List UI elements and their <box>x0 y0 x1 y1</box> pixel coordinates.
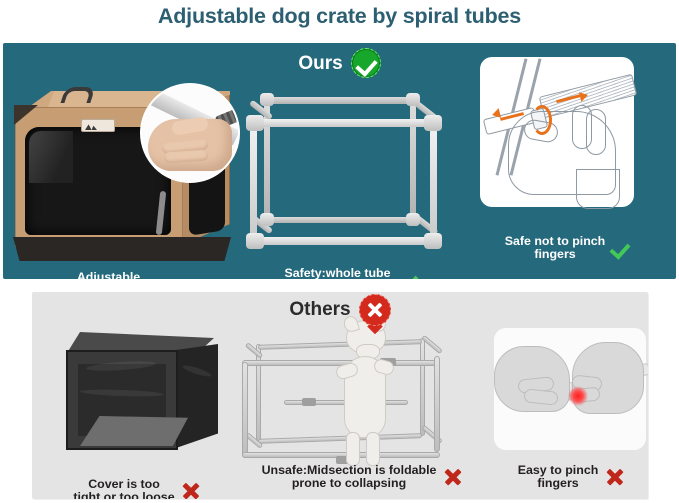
tube-frame-diagram <box>242 89 478 257</box>
fold-joint-marker-1 <box>302 398 316 406</box>
ours-caption-2-text: Safety:whole tube will be more stable <box>282 267 393 279</box>
illustration-finger-2 <box>586 109 606 155</box>
illustration-wrist <box>576 169 620 209</box>
others-caption-3-text: Easy to pinch fingers <box>518 464 599 491</box>
dog-standing-image <box>326 320 412 470</box>
frame-joint-front-top-right <box>424 115 442 131</box>
ours-caption-2: Safety:whole tube will be more stable <box>236 267 464 279</box>
frame-front-bottom-rail <box>250 237 436 245</box>
others-cell-1: Cover is too tight or too loose <box>32 312 242 498</box>
tan-fabric-dog-crate-image <box>11 85 233 275</box>
green-check-icon <box>156 275 174 279</box>
ours-caption-1-text: Adjustable cover of crate <box>68 271 149 279</box>
others-caption-2-text: Unsafe:Midsection is foldable prone to c… <box>262 464 437 491</box>
ours-heading-label: Ours <box>298 54 342 73</box>
others-panel: Others Cover is too tight or too loose <box>32 292 648 499</box>
foldable-frame-with-dog-image <box>238 316 486 474</box>
frame-joint-back-top-right <box>406 93 420 106</box>
others-caption-1-text: Cover is too tight or too loose <box>73 478 174 499</box>
crate-base <box>13 237 231 261</box>
ours-panel: Ours <box>3 43 676 279</box>
page-title: Adjustable dog crate by spiral tubes <box>0 4 679 29</box>
bad-frame-front-left-upright <box>242 362 248 458</box>
crate-mesh-highlight <box>29 131 73 183</box>
dog-leg-left <box>346 432 360 466</box>
crate-carry-handle <box>60 87 95 103</box>
orange-rotation-arrow <box>532 105 552 135</box>
orange-arrow-left-head <box>491 108 501 120</box>
others-caption-2: Unsafe:Midsection is foldable prone to c… <box>238 464 486 491</box>
black-fabric-crate-image <box>58 332 224 456</box>
frame-joint-back-bottom-left <box>260 213 274 226</box>
pinch-point-red-glow-icon <box>568 386 588 406</box>
ours-caption-3-text: Safe not to pinch fingers <box>505 235 606 262</box>
bad-frame-front-right-upright <box>434 356 440 452</box>
ours-caption-3: Safe not to pinch fingers <box>465 235 670 262</box>
frame-joint-front-bottom-right <box>424 233 442 249</box>
red-x-circle-icon <box>359 294 391 326</box>
frame-joint-front-top-left <box>246 115 264 131</box>
ours-caption-1: Adjustable cover of crate <box>7 271 235 279</box>
ours-cell-1: Adjustable cover of crate <box>7 73 235 273</box>
crate-brand-logo <box>81 119 115 132</box>
others-heading-label: Others <box>289 299 350 321</box>
frame-front-left-upright <box>250 123 257 241</box>
red-x-icon <box>605 468 624 487</box>
bad-frame-back-left-upright <box>256 344 261 442</box>
others-caption-1: Cover is too tight or too loose <box>32 478 242 499</box>
frame-back-bottom-rail <box>266 217 414 223</box>
others-heading: Others <box>32 294 648 326</box>
spiral-tube-grip-inset <box>142 85 238 181</box>
pinch-hazard-illustration-card <box>494 328 646 450</box>
green-check-icon <box>400 271 418 279</box>
green-check-icon <box>612 239 630 257</box>
others-cell-3: Easy to pinch fingers <box>482 318 648 498</box>
dog-leg-right <box>366 432 380 466</box>
red-x-icon <box>182 482 201 499</box>
pinch-safe-illustration-card <box>480 57 634 207</box>
ours-cell-3: Safe not to pinch fingers <box>465 43 670 279</box>
frame-joint-back-top-left <box>260 93 274 106</box>
frame-back-top-rail <box>266 97 414 104</box>
frame-joint-back-bottom-right <box>406 213 420 226</box>
bad-frame-back-right-upright <box>420 338 425 436</box>
infographic-page: Adjustable dog crate by spiral tubes Our… <box>0 0 679 503</box>
frame-joint-front-bottom-left <box>246 233 264 249</box>
black-crate-side-panel <box>176 344 218 448</box>
red-x-icon <box>443 468 462 487</box>
others-caption-3: Easy to pinch fingers <box>482 464 648 491</box>
frame-front-top-rail <box>250 119 436 127</box>
ours-cell-2: Safety:whole tube will be more stable <box>236 73 464 273</box>
frame-front-right-upright <box>430 123 437 241</box>
others-cell-2: Unsafe:Midsection is foldable prone to c… <box>238 306 486 498</box>
